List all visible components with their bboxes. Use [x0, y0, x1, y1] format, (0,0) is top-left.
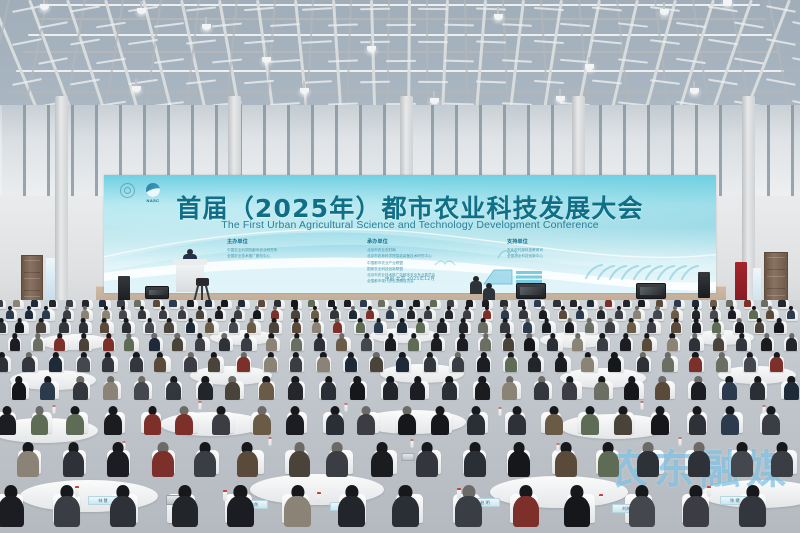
- audience-member: [605, 318, 614, 334]
- audience-member: [17, 442, 39, 479]
- audience-member: [683, 485, 709, 530]
- audience-member: [396, 300, 403, 308]
- audience-member: [457, 333, 468, 352]
- audience-member: [212, 406, 230, 436]
- water-bottle: [599, 494, 603, 505]
- audience-member: [103, 376, 118, 402]
- audience-member: [594, 376, 609, 402]
- audience-member: [477, 352, 490, 373]
- audience-member: [508, 406, 526, 436]
- audience-member: [104, 406, 122, 436]
- audience-member: [502, 376, 517, 402]
- audience-member: [54, 333, 65, 352]
- audience-member: [542, 318, 551, 334]
- audience-member: [289, 442, 311, 479]
- audience-member: [736, 333, 747, 352]
- audience-member: [771, 442, 793, 479]
- audience-member: [784, 376, 799, 402]
- stage-monitor: [145, 286, 169, 299]
- audience-member: [424, 306, 432, 320]
- audience-member: [572, 333, 583, 352]
- audience-member: [0, 406, 16, 436]
- audience-member: [716, 352, 729, 373]
- audience-member: [33, 333, 44, 352]
- audience-member: [312, 318, 321, 334]
- organizer-head: 承办单位: [367, 238, 453, 245]
- audience-member: [398, 406, 416, 436]
- audience-member: [186, 318, 195, 334]
- audience-member: [321, 376, 336, 402]
- audience-member: [534, 376, 549, 402]
- audience-member: [25, 306, 33, 320]
- audience-member: [59, 318, 68, 334]
- audience-member: [503, 333, 514, 352]
- audience-member: [624, 376, 639, 402]
- audience-member: [166, 376, 181, 402]
- audience-member: [13, 300, 20, 308]
- audience-member: [786, 333, 797, 352]
- audience-member: [134, 376, 149, 402]
- organizer-head: 支持单位: [507, 238, 593, 245]
- audience-member: [0, 352, 8, 373]
- audience-member: [205, 300, 212, 308]
- person-on-stage: [470, 276, 482, 294]
- audience-member: [480, 333, 491, 352]
- audience-member: [284, 485, 310, 530]
- audience-member: [357, 406, 375, 436]
- audience-member: [122, 318, 131, 334]
- audience-member: [505, 352, 518, 373]
- audience-member: [722, 376, 737, 402]
- audience-member: [317, 352, 330, 373]
- audience-member: [0, 300, 3, 308]
- audience-member: [585, 318, 594, 334]
- audience-member: [338, 485, 364, 530]
- organizer-head: 主办单位: [227, 238, 313, 245]
- audience-member: [627, 318, 636, 334]
- audience-member: [528, 352, 541, 373]
- audience-member: [508, 442, 530, 479]
- audience-member: [437, 318, 446, 334]
- audience-member: [564, 485, 590, 530]
- audience-member: [774, 318, 783, 334]
- audience-member: [410, 376, 425, 402]
- audience-member: [597, 306, 605, 320]
- audience-member: [196, 306, 204, 320]
- audience-member: [614, 406, 632, 436]
- audience-member: [241, 333, 252, 352]
- audience-member: [662, 352, 675, 373]
- audience-member: [314, 333, 325, 352]
- audience-member: [416, 318, 425, 334]
- audience-member: [623, 300, 630, 308]
- audience-member: [455, 485, 481, 530]
- organizer-line: 全国农业技术推广服务中心: [227, 253, 313, 259]
- audience-member: [187, 300, 194, 308]
- audience-member: [208, 352, 221, 373]
- audience-member: [172, 485, 198, 530]
- audience-member: [637, 352, 650, 373]
- round-table: [40, 334, 110, 350]
- audience-member: [555, 352, 568, 373]
- audience-member: [442, 376, 457, 402]
- audience-member: [10, 333, 21, 352]
- audience-member: [744, 352, 757, 373]
- audience-member: [227, 485, 253, 530]
- audience-member: [576, 306, 584, 320]
- audience-member: [253, 406, 271, 436]
- audience-member: [102, 352, 115, 373]
- audience-member: [36, 318, 45, 334]
- water-bottle: [498, 407, 501, 416]
- audience-member: [464, 442, 486, 479]
- audience-member: [392, 485, 418, 530]
- audience-member: [431, 406, 449, 436]
- audience-member: [605, 300, 612, 308]
- audience-member: [755, 318, 764, 334]
- audience-member: [291, 333, 302, 352]
- audience-member: [350, 376, 365, 402]
- water-bottle: [678, 437, 681, 446]
- audience-member: [371, 442, 393, 479]
- audience-member: [416, 442, 438, 479]
- audience-member: [0, 485, 24, 530]
- audience-member: [608, 352, 621, 373]
- stage-monitor: [516, 283, 546, 299]
- audience-member: [770, 352, 783, 373]
- water-bottle: [344, 403, 347, 412]
- audience-member: [164, 318, 173, 334]
- audience-member: [172, 333, 183, 352]
- audience-member: [107, 442, 129, 479]
- audience-member: [545, 406, 563, 436]
- audience-member: [79, 333, 90, 352]
- audience-member: [79, 318, 88, 334]
- audience-member: [642, 333, 653, 352]
- audience-member: [581, 406, 599, 436]
- audience-member: [691, 376, 706, 402]
- audience-member: [671, 318, 680, 334]
- audience-member: [739, 485, 765, 530]
- audience-member: [22, 352, 35, 373]
- audience-member: [326, 442, 348, 479]
- audience-member: [15, 318, 24, 334]
- audience-member: [761, 333, 772, 352]
- audience-member: [370, 352, 383, 373]
- audience-member: [762, 406, 780, 436]
- audience-member: [225, 376, 240, 402]
- audience-member: [149, 333, 160, 352]
- audience-member: [547, 333, 558, 352]
- audience-member: [54, 485, 80, 530]
- audience-member: [688, 442, 710, 479]
- audience-member: [651, 406, 669, 436]
- audience-member: [0, 318, 6, 334]
- audience-member: [31, 406, 49, 436]
- bird-graphic: [496, 247, 520, 266]
- audience-member: [629, 485, 655, 530]
- water-bottle: [268, 437, 271, 446]
- audience-member: [712, 318, 721, 334]
- audience-member: [778, 300, 785, 308]
- audience-member: [597, 333, 608, 352]
- audience-member: [215, 306, 223, 320]
- video-camera-tripod: [191, 278, 213, 302]
- audience-member: [49, 352, 62, 373]
- conference-title-en: The First Urban Agricultural Science and…: [104, 219, 716, 231]
- audience-member: [288, 376, 303, 402]
- water-bottle: [317, 492, 321, 503]
- audience-member: [655, 376, 670, 402]
- audience-member: [12, 376, 27, 402]
- audience-member: [475, 376, 490, 402]
- audience-member: [431, 333, 442, 352]
- audience-member: [269, 318, 278, 334]
- person-on-stage: [483, 283, 495, 301]
- audience-member: [175, 406, 193, 436]
- audience-member: [326, 406, 344, 436]
- audience-member: [565, 318, 574, 334]
- audience-member: [103, 333, 114, 352]
- audience-member: [581, 352, 594, 373]
- audience-member: [154, 352, 167, 373]
- audience-member: [110, 485, 136, 530]
- audience-member: [647, 318, 656, 334]
- audience-member: [637, 442, 659, 479]
- audience-member: [385, 333, 396, 352]
- audience-member: [713, 333, 724, 352]
- audience-member: [513, 485, 539, 530]
- audience-member: [598, 442, 620, 479]
- audience-member: [424, 352, 437, 373]
- audience-member: [336, 333, 347, 352]
- audience-member: [130, 352, 143, 373]
- audience-member: [459, 318, 468, 334]
- audience-member: [266, 333, 277, 352]
- audience-member: [721, 406, 739, 436]
- conference-photo: NASC 首届（2025年）都市农业科技发展大会 The First Urban…: [0, 0, 800, 533]
- audience-member: [386, 306, 394, 320]
- audience-member: [408, 333, 419, 352]
- water-bottle: [410, 439, 413, 448]
- audience-member: [198, 376, 213, 402]
- audience-member: [361, 333, 372, 352]
- water-bottle: [52, 405, 55, 414]
- audience-member: [689, 352, 702, 373]
- audience-member: [396, 352, 409, 373]
- audience-seating-area: 林 慧章洁然王富宏赵 明刘海涛陈 曦: [0, 300, 800, 533]
- audience-member: [452, 352, 465, 373]
- audience-member: [731, 442, 753, 479]
- audience-member: [292, 318, 301, 334]
- laptop: [402, 453, 415, 461]
- audience-member: [259, 376, 274, 402]
- audience-member: [6, 306, 14, 320]
- audience-member: [374, 318, 383, 334]
- audience-member: [286, 406, 304, 436]
- audience-member: [735, 318, 744, 334]
- audience-member: [478, 318, 487, 334]
- audience-member: [264, 352, 277, 373]
- audience-member: [77, 352, 90, 373]
- audience-member: [750, 376, 765, 402]
- audience-member: [620, 333, 631, 352]
- audience-member: [667, 333, 678, 352]
- audience-member: [152, 442, 174, 479]
- audience-member: [73, 376, 88, 402]
- audience-member: [397, 318, 406, 334]
- audience-member: [290, 352, 303, 373]
- audience-member: [184, 352, 197, 373]
- audience-member: [237, 352, 250, 373]
- audience-member: [205, 318, 214, 334]
- audience-member: [40, 376, 55, 402]
- audience-member: [66, 406, 84, 436]
- audience-member: [555, 442, 577, 479]
- stage-speaker-stack: [118, 276, 130, 302]
- audience-member: [383, 376, 398, 402]
- audience-member: [219, 333, 230, 352]
- audience-member: [333, 318, 342, 334]
- audience-member: [500, 318, 509, 334]
- audience-member: [169, 300, 176, 308]
- audience-member: [145, 318, 154, 334]
- audience-member: [615, 306, 623, 320]
- audience-member: [587, 300, 594, 308]
- audience-member: [237, 442, 259, 479]
- audience-member: [378, 300, 385, 308]
- audience-member: [345, 352, 358, 373]
- water-bottle: [640, 401, 643, 410]
- audience-member: [467, 406, 485, 436]
- audience-member: [562, 376, 577, 402]
- bird-graphic: [434, 255, 456, 273]
- audience-member: [247, 318, 256, 334]
- stage-monitor: [636, 283, 666, 299]
- water-bottle: [198, 401, 201, 410]
- audience-member: [689, 406, 707, 436]
- hall-column: [55, 96, 68, 311]
- audience-member: [229, 318, 238, 334]
- audience-member: [144, 406, 162, 436]
- audience-member: [689, 333, 700, 352]
- audience-member: [194, 442, 216, 479]
- audience-member: [124, 333, 135, 352]
- audience-member: [523, 318, 532, 334]
- audience-member: [100, 318, 109, 334]
- audience-member: [63, 442, 85, 479]
- stage-speaker-stack: [698, 272, 710, 298]
- audience-member: [766, 306, 774, 320]
- audience-member: [692, 318, 701, 334]
- audience-member: [195, 333, 206, 352]
- audience-member: [356, 318, 365, 334]
- audience-member: [524, 333, 535, 352]
- audience-member: [787, 306, 795, 320]
- audience-member: [407, 306, 415, 320]
